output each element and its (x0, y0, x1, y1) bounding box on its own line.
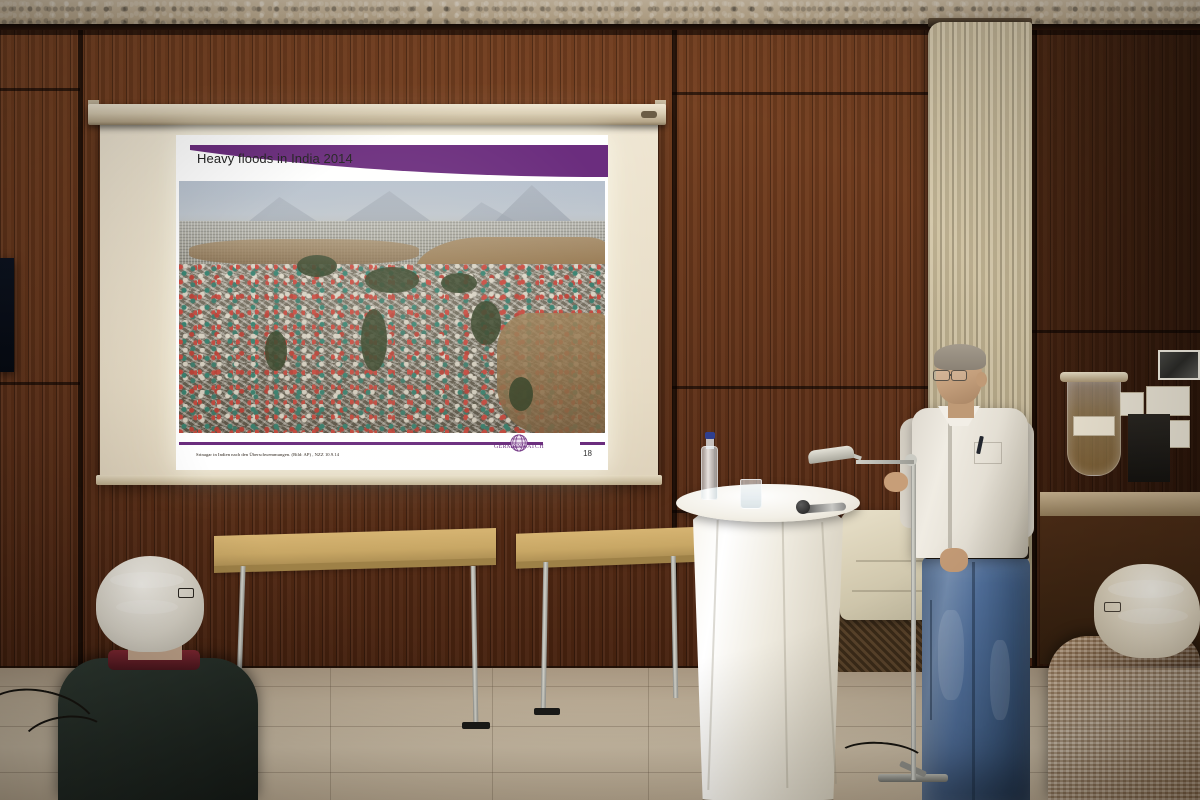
floor-tile-line (492, 668, 493, 800)
wall-seam-horizontal (0, 88, 80, 91)
germanwatch-wordmark: GERMANWATCH (476, 444, 562, 450)
water-bottle-cap[interactable] (705, 432, 715, 439)
wall-notice (1146, 386, 1190, 416)
hair-strand (1108, 580, 1184, 598)
slide-page-number: 18 (583, 449, 592, 458)
aerial-flood-photo (179, 181, 605, 433)
presenter-glasses (933, 370, 950, 381)
hair-strand (110, 572, 184, 588)
microphone-head (796, 500, 810, 514)
projection-screen-weight-bar (96, 475, 662, 485)
counter-appliance (1128, 414, 1170, 482)
water-bottle[interactable] (701, 446, 718, 500)
screen-roller-housing[interactable] (88, 104, 666, 125)
slide-photo-caption: Srinagar in Indien nach den Überschwemmu… (196, 452, 339, 457)
hair-strand (116, 600, 178, 614)
floor-tile-line (648, 668, 649, 800)
presenter-left-hand (884, 472, 908, 492)
wall-notice (1120, 392, 1144, 416)
jeans-highlight (990, 640, 1010, 720)
jeans-seam (972, 562, 975, 800)
wall-seam-horizontal (1032, 330, 1200, 333)
slide-footer-rule-right (580, 442, 605, 445)
presentation-room-scene: Heavy floods in India 2014 (0, 0, 1200, 800)
audience-member-right-body (1048, 636, 1200, 800)
photo-atmospheric-haze (179, 181, 605, 433)
wall-mounted-monitor[interactable] (0, 258, 14, 372)
table-foot (534, 708, 560, 715)
presenter-ear (976, 372, 987, 387)
snack-jar-rim (1060, 372, 1128, 382)
presenter-hair (934, 344, 986, 370)
jeans-highlight (938, 610, 964, 700)
floor-lamp-pole[interactable] (911, 462, 916, 780)
projected-slide: Heavy floods in India 2014 (176, 135, 608, 470)
presenter-right-hand (940, 548, 968, 572)
wall-seam-vertical (1032, 30, 1037, 670)
framed-photo (1158, 350, 1200, 380)
presenter-shirt (912, 408, 1028, 558)
floor-tile-line (330, 668, 331, 800)
jeans-seam (930, 600, 932, 720)
shirt-placket (948, 420, 952, 548)
side-counter (1040, 492, 1200, 516)
slide-title: Heavy floods in India 2014 (197, 151, 353, 166)
drinking-glass[interactable] (740, 479, 762, 509)
glasses-bridge (949, 374, 952, 376)
audience-right-glasses (1104, 602, 1121, 612)
presenter-glasses (951, 370, 967, 381)
hair-strand (1118, 608, 1188, 624)
audience-left-glasses (178, 588, 194, 598)
wall-seam-horizontal (672, 386, 934, 389)
wall-seam-horizontal (0, 382, 80, 385)
floor-lamp-arm (856, 460, 914, 464)
wall-seam-horizontal (672, 92, 934, 95)
snack-jar-label (1073, 416, 1115, 436)
table-foot (462, 722, 490, 729)
wall-seam-vertical (78, 30, 83, 670)
